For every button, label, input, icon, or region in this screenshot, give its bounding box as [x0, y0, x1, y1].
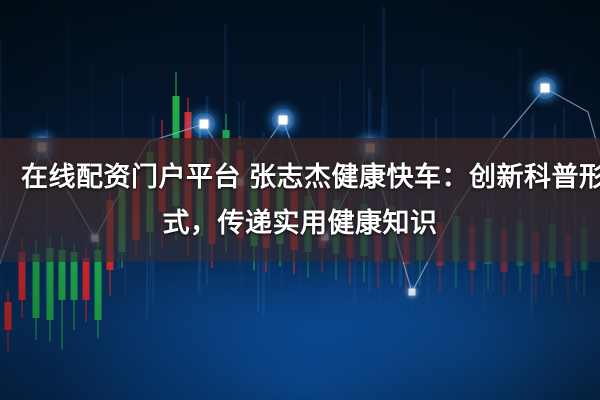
stock-banner-image: 在线配资门户平台 张志杰健康快车：创新科普形 式，传递实用健康知识	[0, 0, 600, 400]
title-line-2: 式，传递实用健康知识	[163, 201, 438, 245]
title-line-1: 在线配资门户平台 张志杰健康快车：创新科普形	[21, 155, 600, 199]
caption-text-block: 在线配资门户平台 张志杰健康快车：创新科普形 式，传递实用健康知识	[0, 138, 600, 262]
